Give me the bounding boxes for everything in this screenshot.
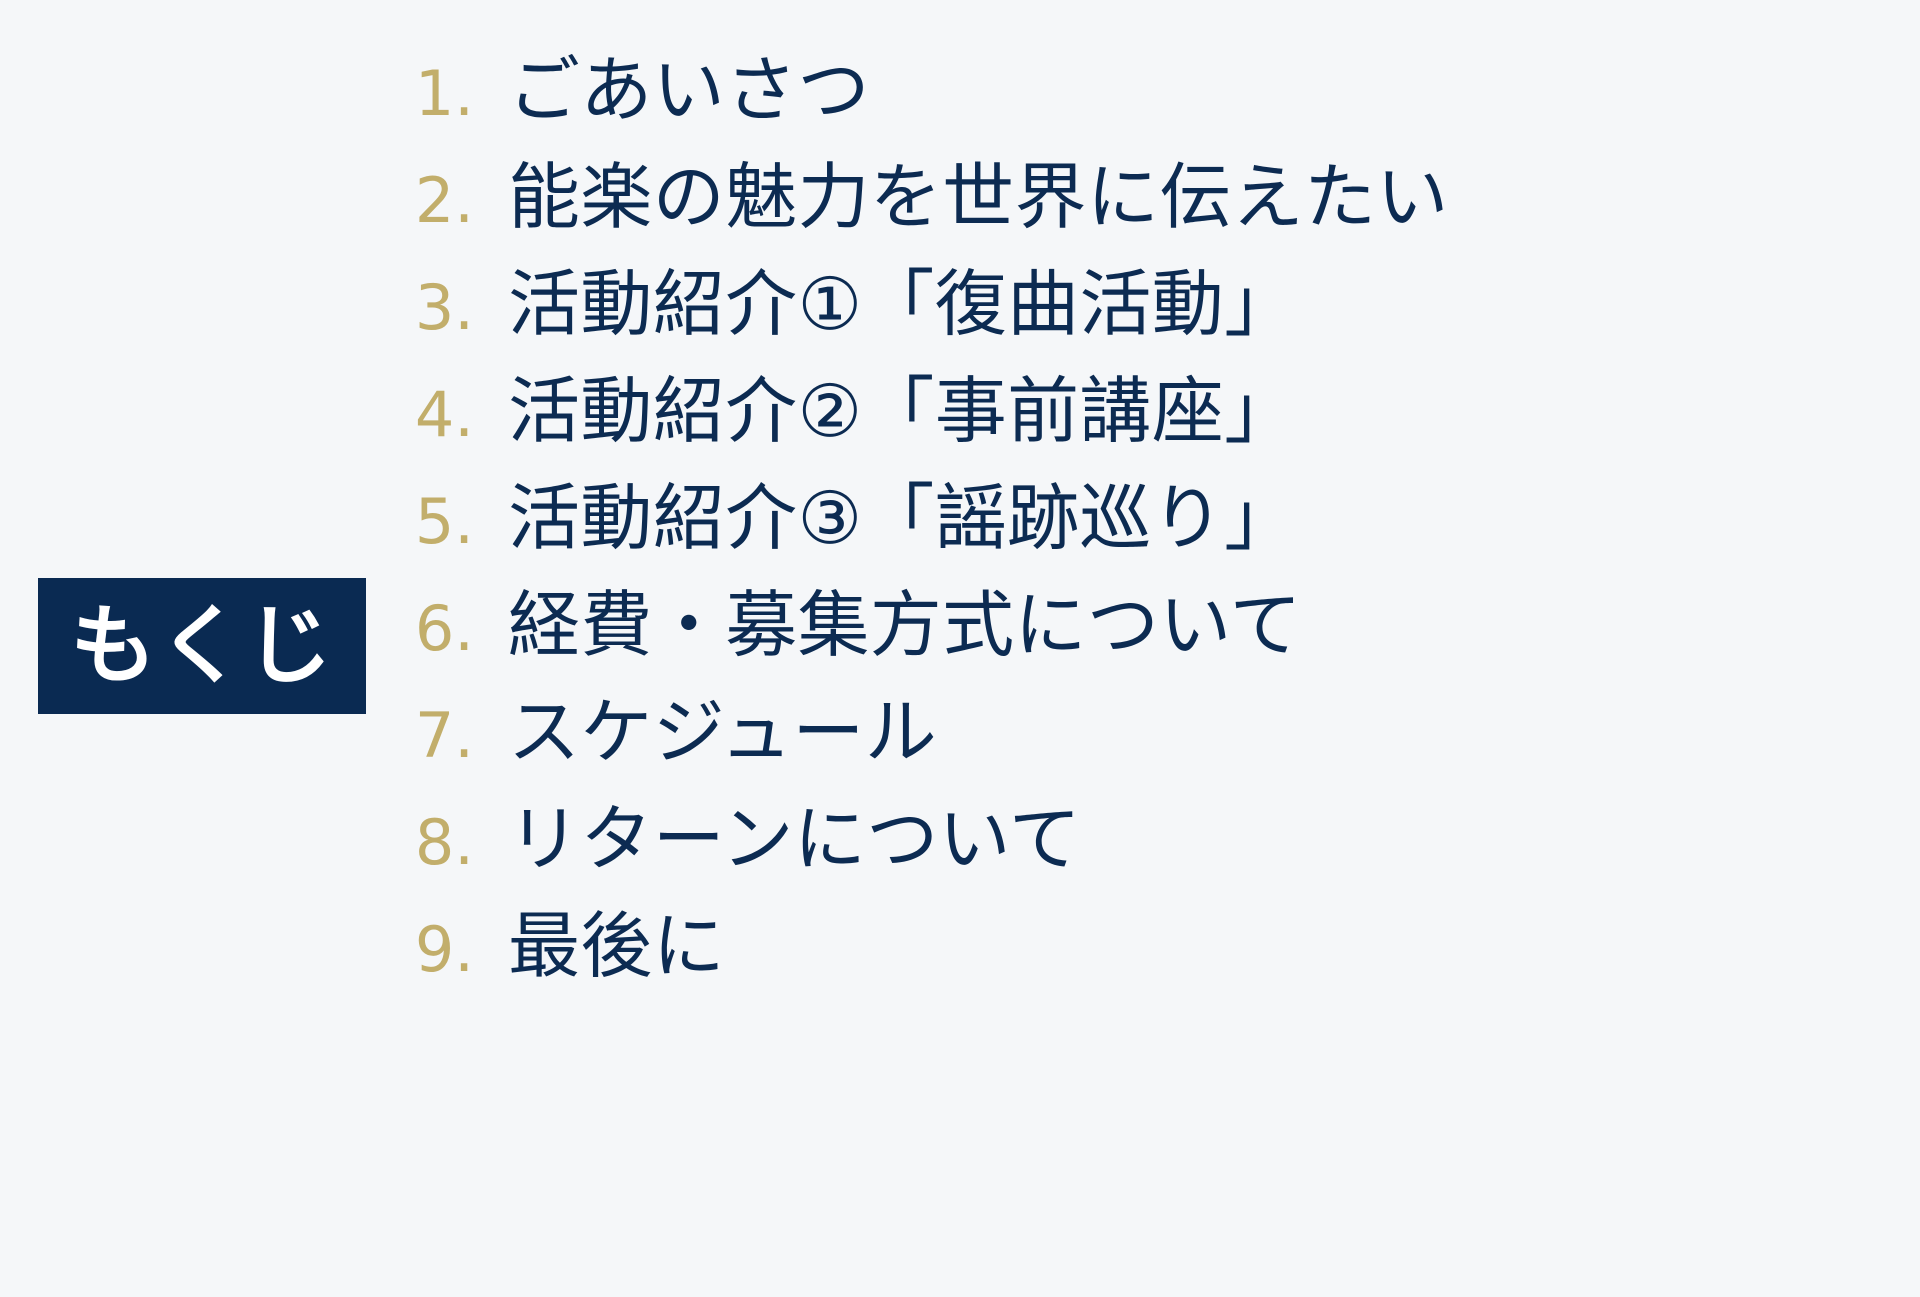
toc-item-2[interactable]: 2. 能楽の魅力を世界に伝えたい <box>378 161 1878 268</box>
table-of-contents: 1. ごあいさつ 2. 能楽の魅力を世界に伝えたい 3. 活動紹介①「復曲活動」… <box>378 54 1878 1017</box>
toc-item-label: 能楽の魅力を世界に伝えたい <box>508 161 1449 233</box>
toc-item-number: 9. <box>378 919 474 981</box>
toc-item-3[interactable]: 3. 活動紹介①「復曲活動」 <box>378 268 1878 375</box>
section-badge: もくじ <box>38 578 366 714</box>
toc-item-label: 活動紹介②「事前講座」 <box>508 375 1297 447</box>
toc-item-label: 活動紹介①「復曲活動」 <box>508 268 1297 340</box>
toc-item-number: 2. <box>378 170 474 232</box>
toc-item-9[interactable]: 9. 最後に <box>378 910 1878 1017</box>
toc-item-4[interactable]: 4. 活動紹介②「事前講座」 <box>378 375 1878 482</box>
toc-item-7[interactable]: 7. スケジュール <box>378 696 1878 803</box>
section-badge-label: もくじ <box>70 603 333 689</box>
toc-item-label: ごあいさつ <box>508 54 870 126</box>
toc-item-label: リターンについて <box>508 803 1081 875</box>
toc-item-6[interactable]: 6. 経費・募集方式について <box>378 589 1878 696</box>
toc-item-label: 最後に <box>508 910 725 982</box>
toc-item-number: 6. <box>378 598 474 660</box>
toc-item-label: 活動紹介③「謡跡巡り」 <box>508 482 1297 554</box>
toc-item-number: 4. <box>378 384 474 446</box>
toc-item-number: 1. <box>378 63 474 125</box>
toc-item-label: 経費・募集方式について <box>508 589 1302 661</box>
toc-item-label: スケジュール <box>508 696 937 768</box>
toc-item-5[interactable]: 5. 活動紹介③「謡跡巡り」 <box>378 482 1878 589</box>
slide-root: もくじ 1. ごあいさつ 2. 能楽の魅力を世界に伝えたい 3. 活動紹介①「復… <box>0 0 1920 1297</box>
toc-item-number: 8. <box>378 812 474 874</box>
toc-item-number: 3. <box>378 277 474 339</box>
toc-item-number: 5. <box>378 491 474 553</box>
toc-item-8[interactable]: 8. リターンについて <box>378 803 1878 910</box>
toc-item-number: 7. <box>378 705 474 767</box>
toc-item-1[interactable]: 1. ごあいさつ <box>378 54 1878 161</box>
